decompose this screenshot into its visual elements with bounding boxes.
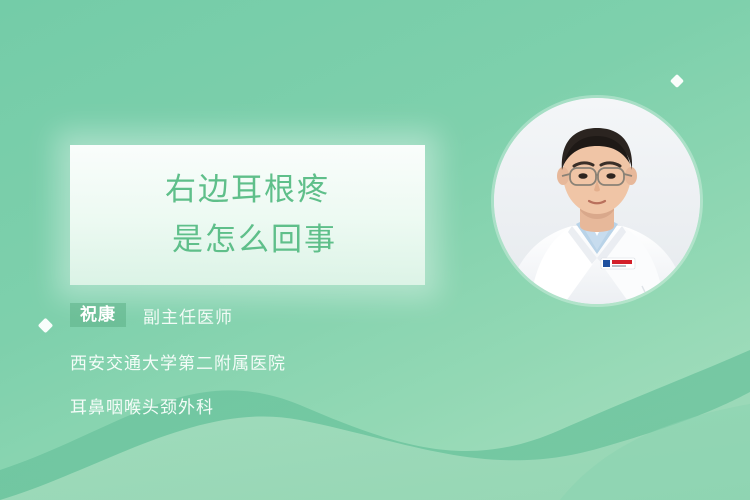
health-article-card: 右边耳根疼 是怎么回事 祝康 副主任医师 西安交通大学第二附属医院 耳鼻咽喉头颈… <box>0 0 750 500</box>
avatar <box>494 98 700 304</box>
doctor-rank: 副主任医师 <box>143 303 233 328</box>
doctor-name-badge: 祝康 <box>70 303 126 327</box>
doctor-name-row: 祝康 副主任医师 <box>70 300 430 330</box>
title-panel: 右边耳根疼 是怎么回事 <box>70 145 425 285</box>
doctor-hospital: 西安交通大学第二附属医院 <box>70 349 430 374</box>
doctor-portrait-illustration <box>494 98 700 304</box>
doctor-info: 祝康 副主任医师 西安交通大学第二附属医院 耳鼻咽喉头颈外科 <box>70 300 430 418</box>
doctor-department: 耳鼻咽喉头颈外科 <box>70 393 430 418</box>
page-title-line-1: 右边耳根疼 <box>165 168 330 212</box>
page-title-line-2: 是怎么回事 <box>158 218 337 262</box>
